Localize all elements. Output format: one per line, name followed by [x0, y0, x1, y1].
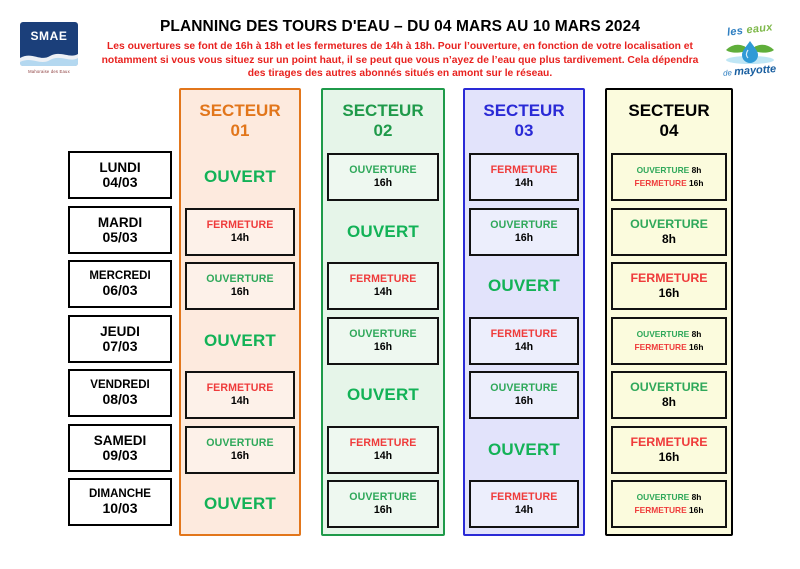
mayotte-logo-line2: de mayotte [723, 64, 777, 79]
event-cell-dual: OUVERTURE 8hFERMETURE 16h [611, 480, 727, 528]
event-line-fermeture: FERMETURE 16h [635, 341, 704, 354]
event-time: 16h [231, 450, 249, 463]
event-line-fermeture: FERMETURE 16h [635, 504, 704, 517]
day-name: LUNDI [99, 160, 140, 175]
event-time: 14h [515, 504, 533, 517]
event-label: OUVERTURE [490, 219, 557, 232]
event-time: 14h [515, 341, 533, 354]
event-label: FERMETURE [207, 219, 274, 232]
event-time: 16h [231, 286, 249, 299]
sector-header-number: 02 [323, 121, 443, 141]
event-cell-ouverture: OUVERTURE8h [611, 371, 727, 419]
event-time: 16h [374, 341, 392, 354]
event-time: 8h [662, 395, 676, 410]
event-cell-ouverture: OUVERTURE16h [185, 262, 295, 310]
event-cell-fermeture: FERMETURE14h [469, 317, 579, 365]
event-label: FERMETURE [207, 382, 274, 395]
event-cell-fermeture: FERMETURE14h [185, 371, 295, 419]
event-cell-fermeture: FERMETURE14h [469, 153, 579, 201]
event-cell-fermeture: FERMETURE16h [611, 426, 727, 474]
sector-header-number: 01 [181, 121, 299, 141]
event-cell-ouverture: OUVERTURE16h [327, 317, 439, 365]
event-label: FERMETURE [491, 491, 558, 504]
sector-column-02: SECTEUR02OUVERTURE16hOUVERTFERMETURE14hO… [321, 88, 445, 536]
event-time: 16h [374, 504, 392, 517]
event-cell-fermeture: FERMETURE14h [327, 426, 439, 474]
les-eaux-de-mayotte-logo: les eaux de mayotte [714, 18, 786, 84]
smae-logo-tagline: Mahoraise des Eaux [28, 69, 70, 74]
day-name: VENDREDI [90, 379, 149, 392]
day-date: 06/03 [102, 283, 137, 299]
day-date: 04/03 [102, 175, 137, 191]
day-name: MERCREDI [89, 270, 150, 283]
event-label: OUVERTURE [349, 328, 416, 341]
sector-header-04: SECTEUR04 [607, 90, 731, 144]
event-label: FERMETURE [350, 437, 417, 450]
event-cell-dual: OUVERTURE 8hFERMETURE 16h [611, 317, 727, 365]
event-line-fermeture: FERMETURE 16h [635, 177, 704, 190]
status-open-cell: OUVERT [469, 262, 579, 310]
event-label: FERMETURE [630, 435, 707, 451]
event-time: 16h [659, 450, 680, 465]
day-cell-mardi: MARDI05/03 [68, 206, 172, 254]
event-label: FERMETURE [350, 273, 417, 286]
smae-logo: SMAE Mahoraise des Eaux [18, 22, 80, 84]
event-time: 16h [515, 395, 533, 408]
event-cell-ouverture: OUVERTURE16h [327, 153, 439, 201]
day-date: 08/03 [102, 392, 137, 408]
event-cell-ouverture: OUVERTURE16h [469, 371, 579, 419]
sector-column-03: SECTEUR03FERMETURE14hOUVERTURE16hOUVERTF… [463, 88, 585, 536]
event-time: 14h [515, 177, 533, 190]
event-label: FERMETURE [630, 271, 707, 287]
planning-poster: SMAE Mahoraise des Eaux PLANNING DES TOU… [0, 0, 800, 569]
day-name: DIMANCHE [89, 488, 151, 501]
event-cell-fermeture: FERMETURE14h [469, 480, 579, 528]
day-date: 07/03 [102, 339, 137, 355]
schedule-grid: LUNDI04/03MARDI05/03MERCREDI06/03JEUDI07… [0, 88, 800, 538]
sector-header-number: 04 [607, 121, 731, 141]
status-open-cell: OUVERT [185, 153, 295, 201]
day-cell-lundi: LUNDI04/03 [68, 151, 172, 199]
event-label: FERMETURE [491, 164, 558, 177]
status-open-cell: OUVERT [185, 480, 295, 528]
event-label: OUVERTURE [630, 380, 708, 396]
event-line-ouverture: OUVERTURE 8h [637, 164, 702, 177]
event-time: 14h [374, 286, 392, 299]
event-cell-ouverture: OUVERTURE16h [469, 208, 579, 256]
event-label: OUVERTURE [349, 491, 416, 504]
sector-column-04: SECTEUR04OUVERTURE 8hFERMETURE 16hOUVERT… [605, 88, 733, 536]
day-cell-jeudi: JEUDI07/03 [68, 315, 172, 363]
event-label: FERMETURE [491, 328, 558, 341]
smae-logo-mark: SMAE [20, 22, 78, 66]
event-cell-fermeture: FERMETURE14h [185, 208, 295, 256]
sector-header-01: SECTEUR01 [181, 90, 299, 144]
event-line-ouverture: OUVERTURE 8h [637, 491, 702, 504]
status-open-cell: OUVERT [327, 208, 439, 256]
event-cell-fermeture: FERMETURE16h [611, 262, 727, 310]
sector-header-label: SECTEUR [607, 101, 731, 121]
day-name: JEUDI [100, 324, 140, 339]
page-title: PLANNING DES TOURS D'EAU – DU 04 MARS AU… [120, 18, 680, 36]
event-line-ouverture: OUVERTURE 8h [637, 328, 702, 341]
sector-header-number: 03 [465, 121, 583, 141]
day-date: 05/03 [102, 230, 137, 246]
smae-logo-text: SMAE [30, 29, 67, 43]
day-name: SAMEDI [94, 433, 147, 448]
day-cell-vendredi: VENDREDI08/03 [68, 369, 172, 417]
event-label: OUVERTURE [206, 437, 273, 450]
header: SMAE Mahoraise des Eaux PLANNING DES TOU… [0, 0, 800, 88]
sector-header-label: SECTEUR [465, 101, 583, 121]
event-cell-ouverture: OUVERTURE16h [185, 426, 295, 474]
status-open-cell: OUVERT [185, 317, 295, 365]
status-open-cell: OUVERT [469, 426, 579, 474]
event-time: 14h [374, 450, 392, 463]
event-time: 8h [662, 232, 676, 247]
sector-header-03: SECTEUR03 [465, 90, 583, 144]
event-cell-ouverture: OUVERTURE8h [611, 208, 727, 256]
event-label: OUVERTURE [490, 382, 557, 395]
sector-header-label: SECTEUR [323, 101, 443, 121]
event-time: 14h [231, 395, 249, 408]
day-cell-samedi: SAMEDI09/03 [68, 424, 172, 472]
event-cell-ouverture: OUVERTURE16h [327, 480, 439, 528]
day-date: 09/03 [102, 448, 137, 464]
page-subtitle: Les ouvertures se font de 16h à 18h et l… [100, 40, 700, 81]
day-name: MARDI [98, 215, 142, 230]
event-label: OUVERTURE [630, 217, 708, 233]
day-cell-mercredi: MERCREDI06/03 [68, 260, 172, 308]
event-time: 16h [515, 232, 533, 245]
event-time: 16h [374, 177, 392, 190]
event-time: 16h [659, 286, 680, 301]
status-open-cell: OUVERT [327, 371, 439, 419]
event-time: 14h [231, 232, 249, 245]
event-cell-dual: OUVERTURE 8hFERMETURE 16h [611, 153, 727, 201]
event-cell-fermeture: FERMETURE14h [327, 262, 439, 310]
sector-column-01: SECTEUR01OUVERTFERMETURE14hOUVERTURE16hO… [179, 88, 301, 536]
water-drop-leaves-icon [722, 37, 778, 65]
event-label: OUVERTURE [206, 273, 273, 286]
sector-header-label: SECTEUR [181, 101, 299, 121]
sector-header-02: SECTEUR02 [323, 90, 443, 144]
day-cell-dimanche: DIMANCHE10/03 [68, 478, 172, 526]
event-label: OUVERTURE [349, 164, 416, 177]
day-date: 10/03 [102, 501, 137, 517]
water-wave-icon [20, 46, 78, 66]
